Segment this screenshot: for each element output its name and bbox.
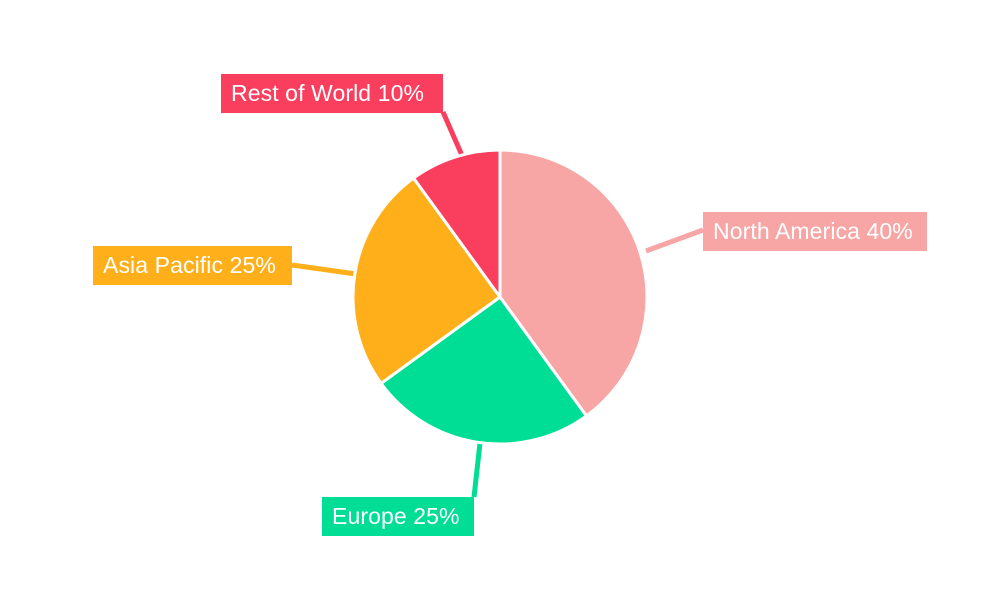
pie-label-north-america[interactable]: North America 40% [703, 212, 927, 251]
leader-line-asia-pacific [292, 265, 356, 274]
pie-label-text: Rest of World 10% [231, 82, 424, 105]
pie-label-asia-pacific[interactable]: Asia Pacific 25% [93, 246, 292, 285]
pie-label-europe[interactable]: Europe 25% [322, 497, 474, 536]
leader-line-europe [474, 443, 480, 497]
leader-line-rest-of-world [443, 112, 464, 160]
pie-label-text: Europe 25% [332, 505, 460, 528]
pie-label-rest-of-world[interactable]: Rest of World 10% [221, 74, 443, 113]
pie-chart-canvas [0, 0, 1000, 600]
pie-slices [353, 150, 647, 444]
leader-line-north-america [646, 230, 703, 251]
pie-label-text: Asia Pacific 25% [103, 254, 276, 277]
pie-label-text: North America 40% [713, 220, 913, 243]
pie-chart: North America 40% Europe 25% Asia Pacifi… [0, 0, 1000, 600]
